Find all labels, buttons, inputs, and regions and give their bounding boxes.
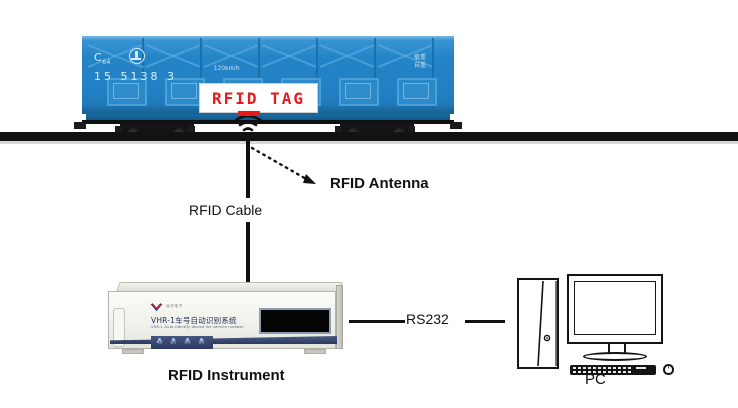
rs232-link-left [349, 320, 405, 323]
tower-icon [517, 278, 559, 369]
instrument-display-window [259, 308, 331, 334]
rfid-cable-label: RFID Cable [189, 202, 262, 218]
railcar-number: 15 5138 3 [94, 71, 177, 82]
railway-logo-icon [129, 48, 145, 64]
monitor-stand-base [583, 352, 647, 361]
instrument-led: 运行 [168, 338, 179, 347]
led-label: 读写 [196, 341, 207, 345]
rs232-label: RS232 [406, 311, 449, 327]
rfid-tag-label: RFID TAG [212, 89, 305, 108]
rfid-tag-plate: RFID TAG [199, 83, 318, 113]
railcar-speed-mark: 120km/h [214, 66, 240, 72]
railcar-hatch-inner [345, 83, 371, 99]
railcar-top-rail [82, 36, 454, 40]
rs232-link-right [465, 320, 505, 323]
instrument-front-panel: 远方电子 VHR-1车号自动识别系统 VHR-1 Auto-identify d… [108, 291, 336, 349]
wifi-signal-icon [233, 116, 263, 133]
railcar-hatch-inner [171, 83, 197, 99]
instrument-panel-subtitle: VHR-1 Auto-identify device for vehicle n… [151, 325, 244, 329]
led-label: 通讯 [182, 341, 193, 345]
rfid-instrument-label: RFID Instrument [168, 367, 285, 384]
instrument-brand-text: 远方电子 [166, 304, 183, 309]
instrument-led: 电源 [154, 338, 165, 347]
antenna-pointer-icon [250, 146, 322, 190]
led-label: 运行 [168, 341, 179, 345]
instrument-led: 通讯 [182, 338, 193, 347]
instrument-led-panel: 电源 运行 通讯 读写 [151, 336, 213, 349]
rfid-instrument-illustration: 远方电子 VHR-1车号自动识别系统 VHR-1 Auto-identify d… [108, 282, 343, 360]
railcar-coupler [450, 122, 462, 129]
led-label: 电源 [154, 341, 165, 345]
railcar-side-marks: 载重 自重 [414, 54, 426, 70]
manufacturer-logo-icon [150, 303, 163, 312]
rail-shadow [0, 141, 738, 144]
rail-line [0, 132, 738, 141]
mouse-icon [663, 364, 674, 375]
instrument-accent-stripe [110, 336, 337, 344]
instrument-led: 读写 [196, 338, 207, 347]
railcar-coupler [74, 122, 86, 129]
keyboard-icon [570, 365, 656, 375]
railcar-hatch-inner [403, 83, 429, 99]
pc-label: PC [585, 371, 606, 388]
diagram-canvas: C64 15 5138 3 120km/h 载重 自重 RFID TAG [0, 0, 738, 408]
pc-illustration [505, 272, 695, 387]
rfid-cable-lower [246, 222, 250, 284]
rfid-tag-mount [238, 111, 260, 115]
rfid-cable-upper [246, 141, 250, 198]
monitor-screen [574, 281, 656, 335]
instrument-foot [304, 349, 326, 354]
railcar-hatch-inner [113, 83, 139, 99]
instrument-right-side [336, 285, 343, 349]
instrument-foot [122, 349, 144, 354]
monitor-icon [567, 274, 663, 344]
antenna-label: RFID Antenna [330, 175, 429, 192]
